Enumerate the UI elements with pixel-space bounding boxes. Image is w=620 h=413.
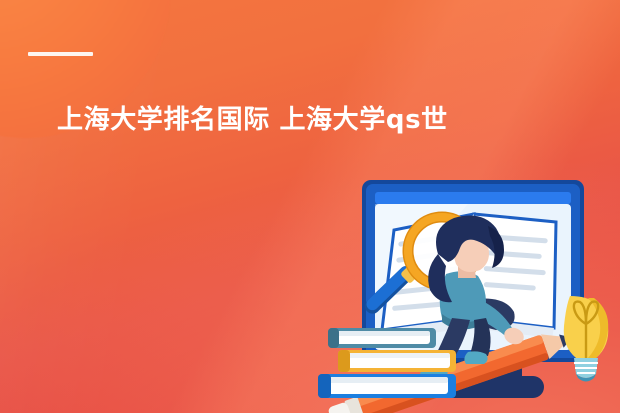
banner-headline: 上海大学排名国际 上海大学qs世 bbox=[57, 106, 620, 136]
student-research-illustration bbox=[318, 178, 620, 413]
lightbulb-group bbox=[564, 296, 609, 382]
book-stack-group bbox=[318, 328, 456, 398]
monitor-screen-topbar bbox=[375, 192, 571, 204]
decorative-rule bbox=[28, 52, 93, 56]
promo-banner: 上海大学排名国际 上海大学qs世 bbox=[0, 0, 620, 413]
book-top bbox=[328, 328, 436, 348]
person-shoe-back bbox=[464, 351, 487, 364]
book-bottom bbox=[318, 374, 456, 398]
book-middle bbox=[338, 350, 456, 372]
